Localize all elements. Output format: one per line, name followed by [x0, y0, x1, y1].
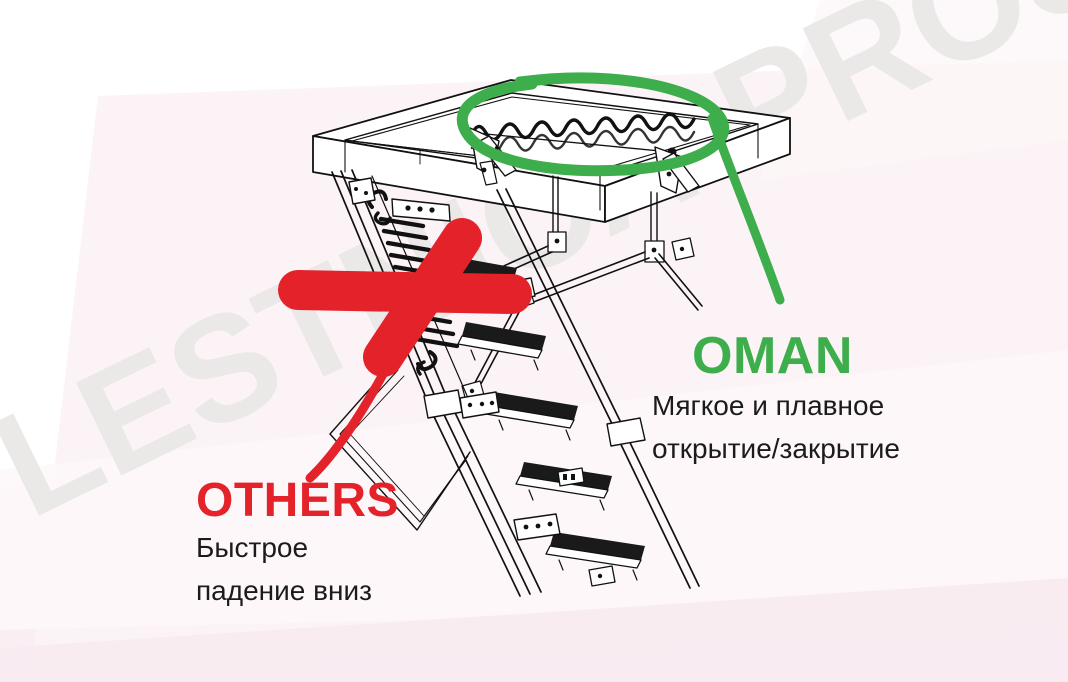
oman-description-line-2: открытие/закрытие: [652, 435, 900, 463]
red-arrow-down-left: [298, 238, 512, 478]
others-description-line-2: падение вниз: [196, 577, 372, 605]
illustration-canvas: LESTNICA-PROSTO.RU: [0, 0, 1068, 682]
oman-brand-label: OMAN: [692, 330, 853, 382]
green-ellipse-highlight: [462, 78, 780, 300]
oman-description-line-1: Мягкое и плавное: [652, 392, 884, 420]
others-description-line-1: Быстрое: [196, 534, 308, 562]
others-brand-label: OTHERS: [196, 477, 399, 525]
marker-annotations: [0, 0, 1068, 682]
